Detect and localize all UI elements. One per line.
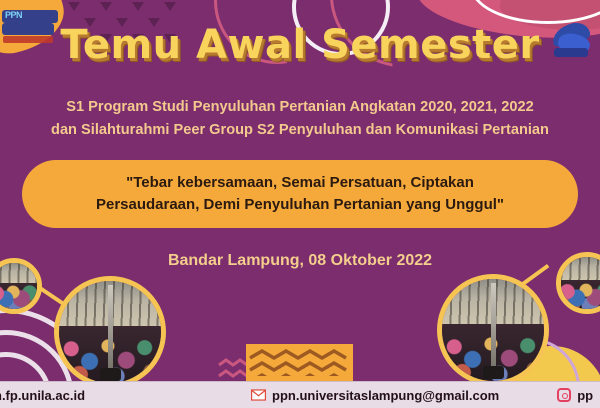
email-text: ppn.universitaslampung@gmail.com	[272, 388, 499, 403]
quote-box: "Tebar kebersamaan, Semai Persatuan, Cip…	[22, 160, 578, 228]
instagram-text: pp	[577, 388, 593, 403]
instagram-icon	[557, 388, 571, 402]
gmail-icon	[251, 389, 266, 401]
footer-website[interactable]: n.fp.unila.ac.id	[0, 388, 85, 403]
subtitle-line-1: S1 Program Studi Penyuluhan Pertanian An…	[8, 96, 592, 119]
white-swoosh-top-right	[470, 0, 600, 24]
page-title: Temu Awal Semester	[0, 22, 600, 68]
quote-text: "Tebar kebersamaan, Semai Persatuan, Cip…	[78, 172, 522, 216]
website-text: n.fp.unila.ac.id	[0, 388, 85, 403]
event-crowd-photo	[437, 274, 549, 386]
quote-line-2: Persaudaraan, Demi Penyuluhan Pertanian …	[96, 194, 504, 216]
footer-instagram[interactable]: pp	[557, 388, 593, 403]
footer-email[interactable]: ppn.universitaslampung@gmail.com	[251, 388, 499, 403]
subtitle-line-2: dan Silahturahmi Peer Group S2 Penyuluha…	[8, 119, 592, 142]
poster-canvas: PPN	[0, 0, 600, 408]
quote-line-1: "Tebar kebersamaan, Semai Persatuan, Cip…	[96, 172, 504, 194]
event-crowd-photo	[54, 276, 166, 388]
date-location-text: Bandar Lampung, 08 Oktober 2022	[0, 252, 600, 270]
contact-footer-bar: n.fp.unila.ac.id ppn.universitaslampung@…	[0, 381, 600, 408]
subtitle-block: S1 Program Studi Penyuluhan Pertanian An…	[8, 96, 592, 141]
